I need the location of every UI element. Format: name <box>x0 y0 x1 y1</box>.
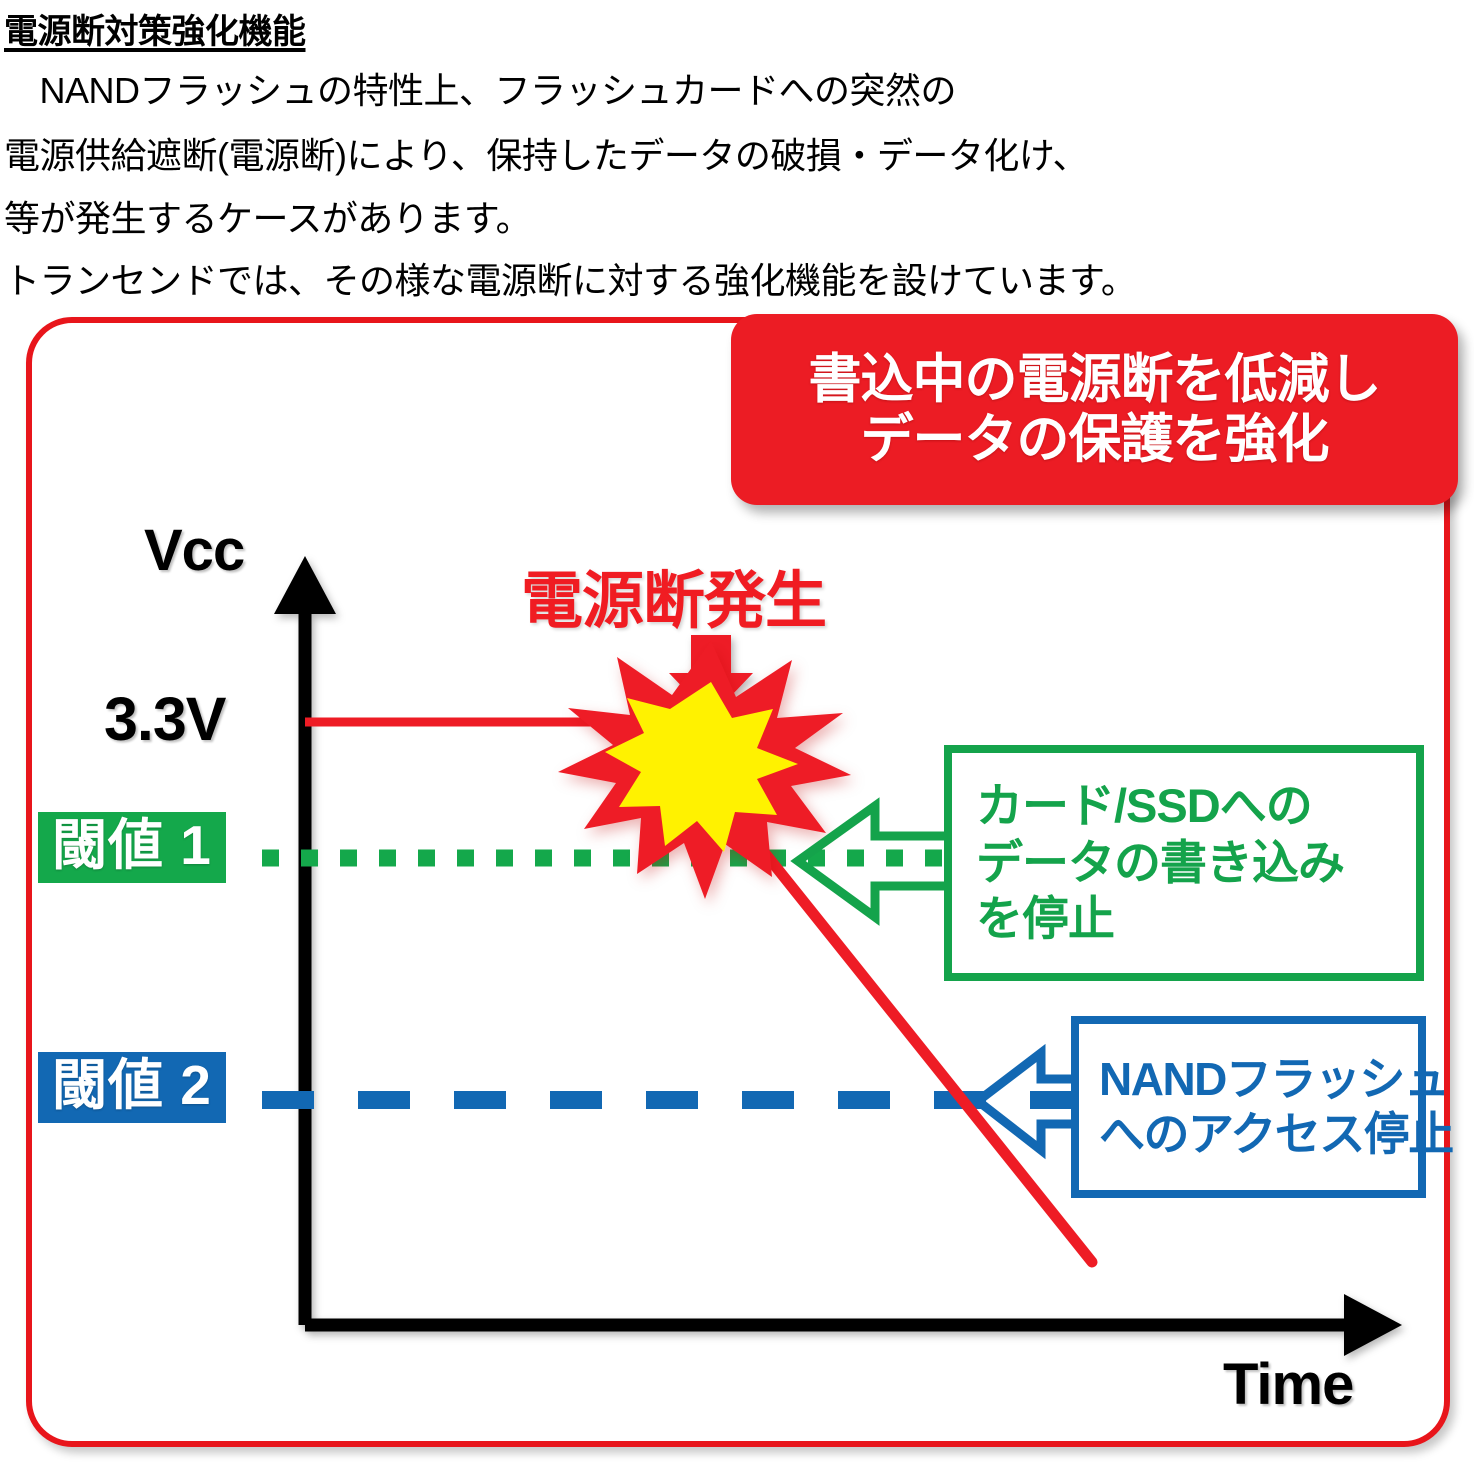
callout-write-stop: カード/SSDへの データの書き込み を停止 <box>944 745 1424 981</box>
nominal-voltage-label: 3.3V <box>104 684 226 754</box>
callout-nand-access-stop: NANDフラッシュ へのアクセス停止 <box>1071 1016 1426 1198</box>
callout-line: データの書き込み <box>976 835 1416 891</box>
callout-line: を停止 <box>976 891 1416 947</box>
y-axis-label: Vcc <box>144 517 244 584</box>
banner-line: 書込中の電源断を低減し <box>809 350 1381 409</box>
banner-line: データの保護を強化 <box>861 410 1329 469</box>
intro-paragraph-line: 等が発生するケースがあります。 <box>4 190 531 242</box>
power-loss-caption: 電源断発生 <box>521 550 826 640</box>
callout-line: NANDフラッシュ <box>1099 1052 1418 1107</box>
x-axis-label: Time <box>1223 1351 1353 1418</box>
intro-paragraph-line: トランセンドでは、その様な電源断に対する強化機能を設けています。 <box>4 252 1136 304</box>
intro-paragraph-line: NANDフラッシュの特性上、フラッシュカードへの突然の <box>4 62 956 114</box>
callout-line: へのアクセス停止 <box>1099 1107 1418 1162</box>
threshold-2-label: 閾値 2 <box>38 1052 226 1123</box>
intro-text-block: 電源断対策強化機能 NANDフラッシュの特性上、フラッシュカードへの突然の 電源… <box>0 0 1474 300</box>
callout-line: カード/SSDへの <box>976 778 1416 834</box>
intro-paragraph-line: 電源供給遮断(電源断)により、保持したデータの破損・データ化け、 <box>4 127 1088 179</box>
threshold-1-label: 閾値 1 <box>38 812 226 883</box>
headline-banner: 書込中の電源断を低減し データの保護を強化 <box>731 314 1458 505</box>
page-title: 電源断対策強化機能 <box>4 4 306 53</box>
